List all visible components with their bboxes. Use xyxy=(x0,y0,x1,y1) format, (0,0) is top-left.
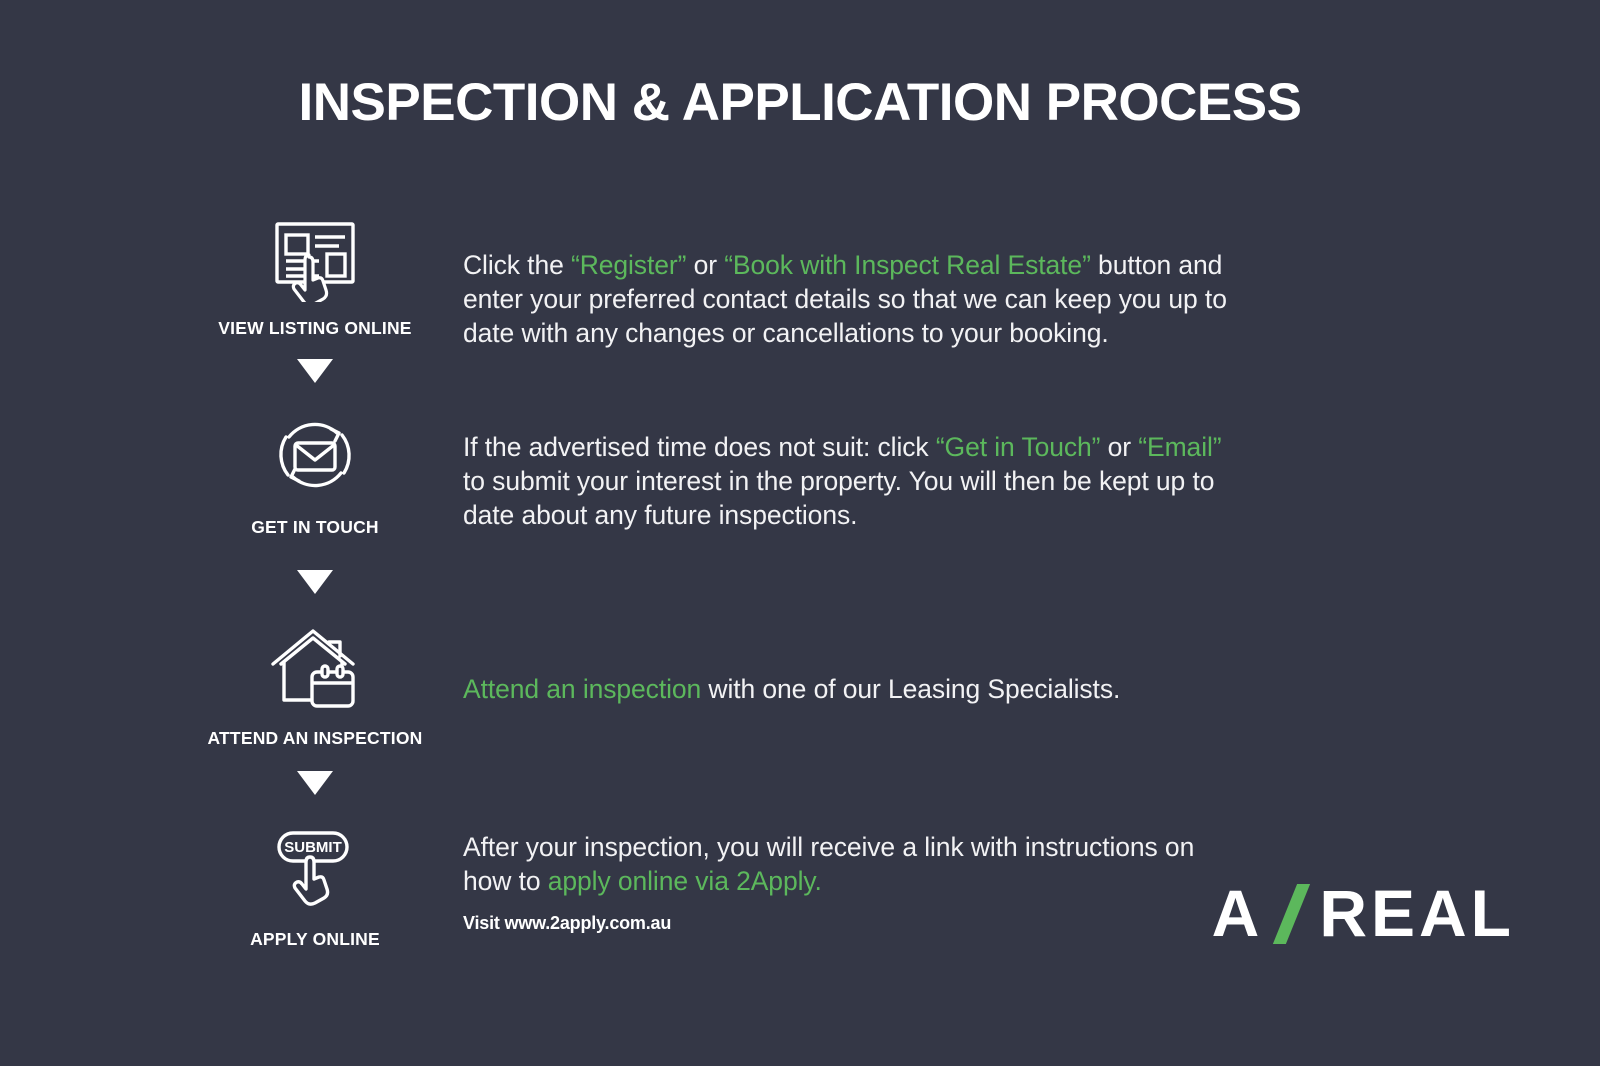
logo-letter: A xyxy=(1212,880,1264,946)
logo-word: REAL xyxy=(1319,880,1515,946)
highlight-text: “Email” xyxy=(1138,432,1221,462)
body-text: with one of our Leasing Specialists. xyxy=(701,674,1120,704)
submit-icon-text: SUBMIT xyxy=(284,839,342,856)
step-label: VIEW LISTING ONLINE xyxy=(190,318,440,339)
step-label: ATTEND AN INSPECTION xyxy=(190,728,440,749)
envelope-refresh-icon xyxy=(190,407,440,503)
submit-button-pointer-icon: SUBMIT xyxy=(190,819,440,915)
house-calendar-icon xyxy=(190,618,440,714)
visit-note: Visit www.2apply.com.au xyxy=(463,913,671,934)
down-triangle-icon xyxy=(190,359,440,383)
step-view-listing-online: VIEW LISTING ONLINE xyxy=(190,208,440,339)
step-paragraph-get-in-touch: If the advertised time does not suit: cl… xyxy=(463,431,1233,533)
listing-page-pointer-icon xyxy=(190,208,440,304)
page-title: INSPECTION & APPLICATION PROCESS xyxy=(0,72,1600,133)
body-text: or xyxy=(1100,432,1138,462)
step-paragraph-attend-an-inspection: Attend an inspection with one of our Lea… xyxy=(463,673,1233,707)
step-paragraph-view-listing-online: Click the “Register” or “Book with Inspe… xyxy=(463,249,1233,351)
highlight-text: Attend an inspection xyxy=(463,674,701,704)
infographic-page: INSPECTION & APPLICATION PROCESS VIEW LI… xyxy=(0,0,1600,1066)
step-column: VIEW LISTING ONLINE GET IN TOUCH xyxy=(190,208,440,950)
body-text: or xyxy=(686,250,724,280)
down-triangle-icon xyxy=(190,771,440,795)
step-label: GET IN TOUCH xyxy=(190,517,440,538)
step-apply-online: SUBMIT APPLY ONLINE xyxy=(190,819,440,950)
highlight-text: apply online via 2Apply. xyxy=(548,866,822,896)
highlight-text: “Book with Inspect Real Estate” xyxy=(724,250,1091,280)
highlight-text: “Register” xyxy=(571,250,686,280)
down-triangle-icon xyxy=(190,570,440,594)
step-label: APPLY ONLINE xyxy=(190,929,440,950)
body-text: Click the xyxy=(463,250,571,280)
step-attend-an-inspection: ATTEND AN INSPECTION xyxy=(190,618,440,749)
step-paragraph-apply-online: After your inspection, you will receive … xyxy=(463,831,1233,899)
highlight-text: “Get in Touch” xyxy=(936,432,1101,462)
brand-logo: A REAL xyxy=(1212,880,1515,946)
body-text: If the advertised time does not suit: cl… xyxy=(463,432,936,462)
body-text: to submit your interest in the property.… xyxy=(463,466,1214,530)
logo-slash-icon xyxy=(1269,882,1315,944)
step-get-in-touch: GET IN TOUCH xyxy=(190,407,440,538)
